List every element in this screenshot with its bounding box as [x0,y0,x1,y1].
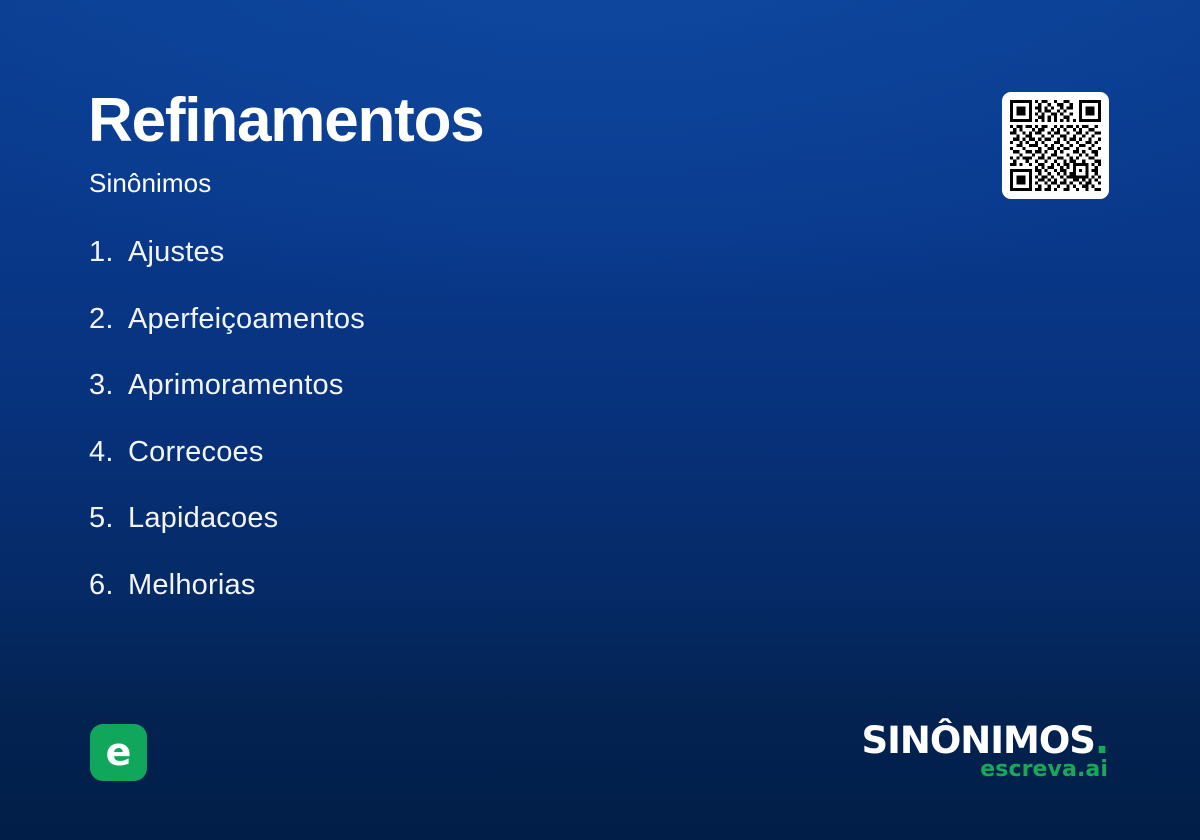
qr-code-icon [1010,100,1101,191]
list-item-label: Correcoes [128,436,264,469]
page-title: Refinamentos [88,90,484,152]
list-item-index: 4. [89,436,123,469]
list-item: 4.Correcoes [89,436,909,503]
list-item-label: Aprimoramentos [128,369,344,402]
wordmark-dot: . [1095,719,1108,762]
list-item: 1.Ajustes [89,236,909,303]
qr-code-panel[interactable] [1002,92,1109,199]
list-item: 6.Melhorias [89,569,909,636]
list-item-label: Ajustes [128,236,225,269]
list-item-index: 6. [89,569,123,602]
list-item-label: Lapidacoes [128,502,278,535]
escreva-badge-icon[interactable]: e [90,724,147,781]
list-item-index: 1. [89,236,123,269]
list-item-label: Aperfeiçoamentos [128,303,365,336]
list-item: 5.Lapidacoes [89,502,909,569]
page-subtitle: Sinônimos [89,168,211,199]
wordmark-main-text: SINÔNIMOS. [861,722,1108,760]
synonym-card: Refinamentos Sinônimos 1.Ajustes2.Aperfe… [0,0,1200,840]
list-item: 2.Aperfeiçoamentos [89,303,909,370]
brand-wordmark[interactable]: SINÔNIMOS. escreva.ai [861,722,1108,781]
wordmark-main-label: SINÔNIMOS [861,719,1095,762]
brand-badge-letter: e [106,733,132,771]
list-item-label: Melhorias [128,569,256,602]
synonym-list: 1.Ajustes2.Aperfeiçoamentos3.Aprimoramen… [89,236,909,635]
list-item-index: 5. [89,502,123,535]
list-item: 3.Aprimoramentos [89,369,909,436]
list-item-index: 3. [89,369,123,402]
list-item-index: 2. [89,303,123,336]
